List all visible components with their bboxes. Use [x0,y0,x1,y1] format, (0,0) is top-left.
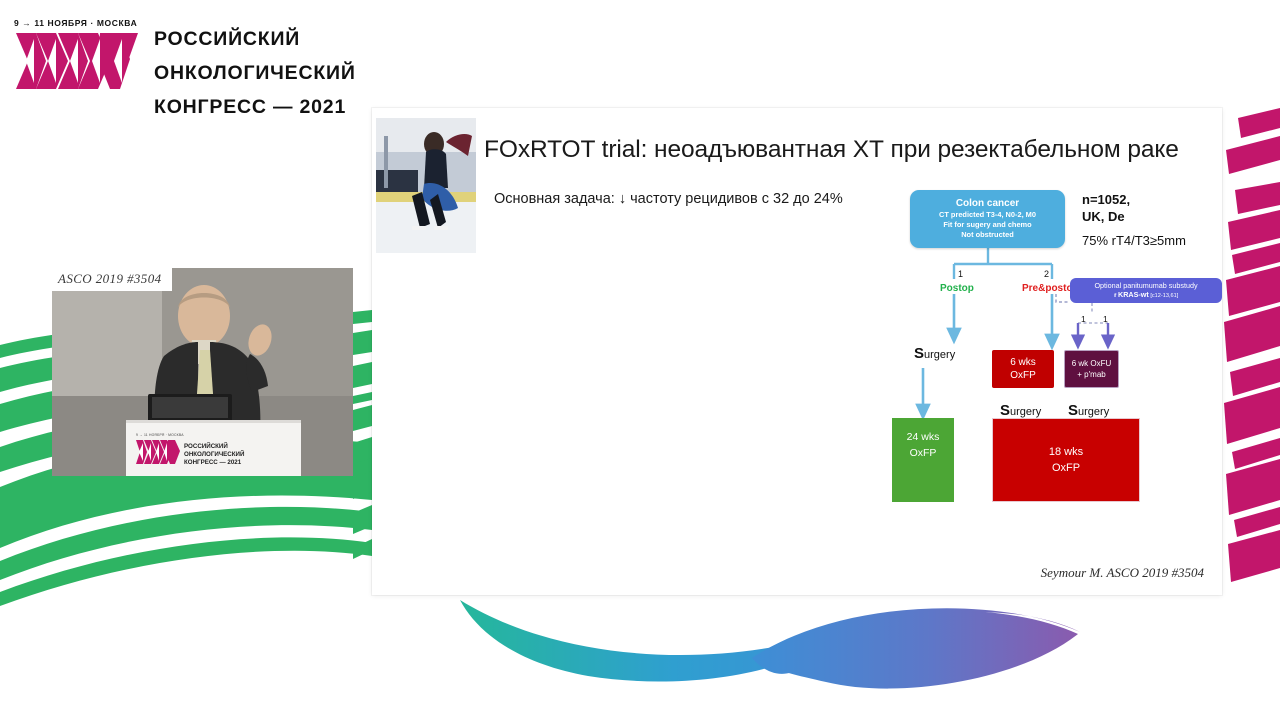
presentation-slide[interactable]: FOxRTOT trial: неоадъювантная ХТ при рез… [372,108,1222,595]
preop-oxfp-regimen: OxFP [1010,369,1036,383]
slide-subtitle: Основная задача: ↓ частоту рецидивов с 3… [494,191,843,207]
population-criterion-3: Not obstructed [961,230,1014,240]
arm-1-label: Postop [940,283,974,294]
postop-24wk-regimen: OxFP [910,446,937,462]
population-title: Colon cancer [956,198,1019,211]
arm-1-number: 1 [958,269,963,279]
treatment-box-postop-24wk: 24 wks OxFP [892,418,954,502]
population-criterion-2: Fit for sugery and chemo [943,220,1031,230]
surgery-label-arm1: Surgery [914,345,955,362]
randomization-left: 1 [1081,314,1086,324]
substudy-kras: KRAS-wt [1118,290,1149,299]
logo-mark-wrap: 9 → 11 НОЯБРЯ · МОСКВА [14,18,142,93]
logo-dates: 9 → 11 НОЯБРЯ · МОСКВА [14,18,142,28]
surgery-initial-2: S [1000,402,1010,419]
surgery-initial-1: S [914,345,924,362]
substudy-line-1: Optional panitumumab substudy [1094,281,1197,290]
congress-logo: 9 → 11 НОЯБРЯ · МОСКВА РОССИЙСКИЙ ОНКОЛО… [14,18,356,119]
treatment-box-postop-18wk: 18 wks OxFP [992,418,1140,502]
population-box: Colon cancer CT predicted T3-4, N0-2, M0… [910,190,1065,248]
population-criterion-1: CT predicted T3-4, N0-2, M0 [939,210,1036,220]
svg-text:ОНКОЛОГИЧЕСКИЙ: ОНКОЛОГИЧЕСКИЙ [184,450,245,458]
enrollment-count-line1: n=1052, [1082,192,1130,209]
substudy-line-2: if KRAS-wt [c12-13,61] [1114,290,1179,300]
surgery-label-arm2b: Surgery [1068,402,1109,419]
treatment-box-preop-oxfu-pmab: 6 wk OxFU + p'mab [1064,350,1119,388]
preop-oxfp-duration: 6 wks [1010,356,1036,370]
svg-text:КОНГРЕСС — 2021: КОНГРЕСС — 2021 [184,459,242,466]
substudy-codon: [c12-13,61] [1149,293,1179,299]
surgery-rest-1: urgery [924,349,955,361]
surgery-rest-2: urgery [1010,406,1041,418]
svg-text:9 → 11 НОЯБРЯ · МОСКВА: 9 → 11 НОЯБРЯ · МОСКВА [136,433,184,437]
speaker-photo: 9 → 11 НОЯБРЯ · МОСКВА РОССИЙСКИЙ ОНКОЛО… [52,268,353,476]
randomization-right: 1 [1103,314,1108,324]
logo-wordmark: РОССИЙСКИЙ ОНКОЛОГИЧЕСКИЙ КОНГРЕСС — 202… [154,18,356,119]
slide-title: FOxRTOT trial: неоадъювантная ХТ при рез… [484,136,1214,164]
surgery-initial-3: S [1068,402,1078,419]
enrollment-count: n=1052, UK, De [1082,192,1130,226]
logo-line-2: ОНКОЛОГИЧЕСКИЙ [154,62,356,86]
surgery-label-arm2a: Surgery [1000,402,1041,419]
ice-dancing-photo-thumbnail [376,118,476,253]
stage-distribution: 75% rT4/T3≥5mm [1082,233,1186,248]
video-source-badge: ASCO 2019 #3504 [52,268,172,291]
enrollment-count-line2: UK, De [1082,209,1130,226]
treatment-box-preop-oxfp: 6 wks OxFP [992,350,1054,388]
preop-oxfu-duration: 6 wk OxFU [1072,358,1112,369]
green-wave-band-far [353,310,372,559]
slide-citation: Seymour M. ASCO 2019 #3504 [1041,565,1204,581]
postop-18wk-duration: 18 wks [1049,444,1083,461]
logo-line-3: КОНГРЕСС — 2021 [154,96,356,120]
postop-18wk-regimen: OxFP [1052,460,1080,477]
preop-oxfu-regimen: + p'mab [1077,369,1105,380]
trial-flow-diagram: Colon cancer CT predicted T3-4, N0-2, M0… [892,190,1222,580]
speaker-video-panel[interactable]: 9 → 11 НОЯБРЯ · МОСКВА РОССИЙСКИЙ ОНКОЛО… [52,268,353,476]
svg-text:РОССИЙСКИЙ: РОССИЙСКИЙ [184,442,228,450]
panitumumab-substudy-box: Optional panitumumab substudy if KRAS-wt… [1070,278,1222,303]
postop-24wk-duration: 24 wks [907,430,940,446]
blue-purple-swoosh-2 [752,610,1078,688]
magenta-wave-band [1224,108,1280,582]
xxv-roman-numeral-icon [14,31,142,93]
arm-2-number: 2 [1044,269,1049,279]
logo-line-1: РОССИЙСКИЙ [154,28,356,52]
diagram-connectors [892,190,1222,580]
surgery-rest-3: urgery [1078,406,1109,418]
